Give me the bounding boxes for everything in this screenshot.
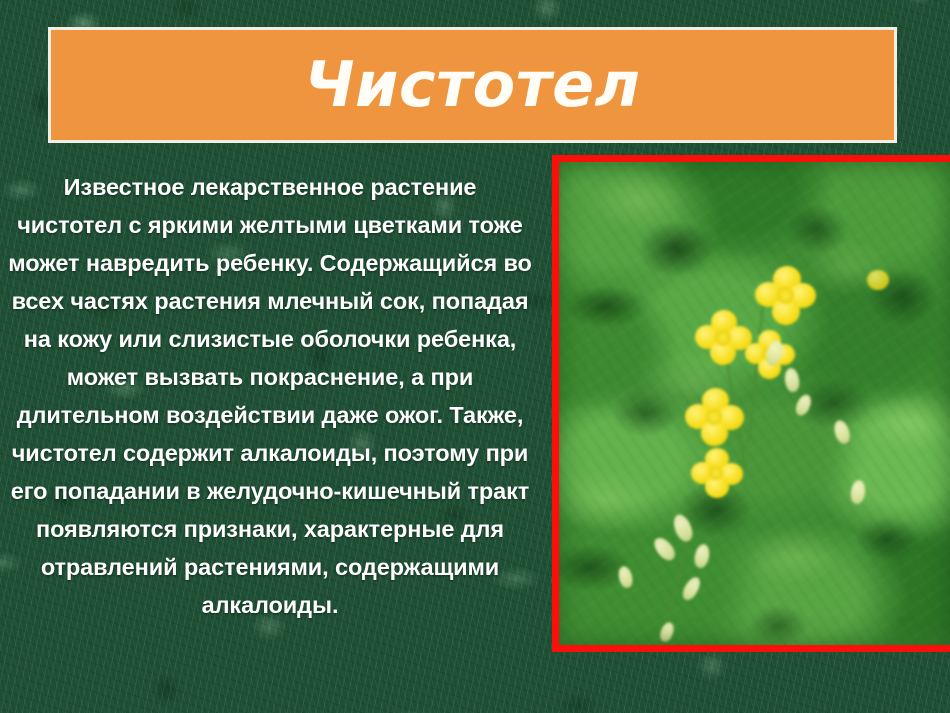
photo-frame xyxy=(552,155,950,652)
title-banner: Чистотел xyxy=(48,27,897,143)
body-paragraph: Известное лекарственное растение чистоте… xyxy=(8,168,532,624)
page-title: Чистотел xyxy=(304,54,640,116)
photo-blur-overlay xyxy=(559,162,950,645)
celandine-photo xyxy=(559,162,950,645)
slide-canvas: Чистотел Известное лекарственное растени… xyxy=(0,0,950,713)
